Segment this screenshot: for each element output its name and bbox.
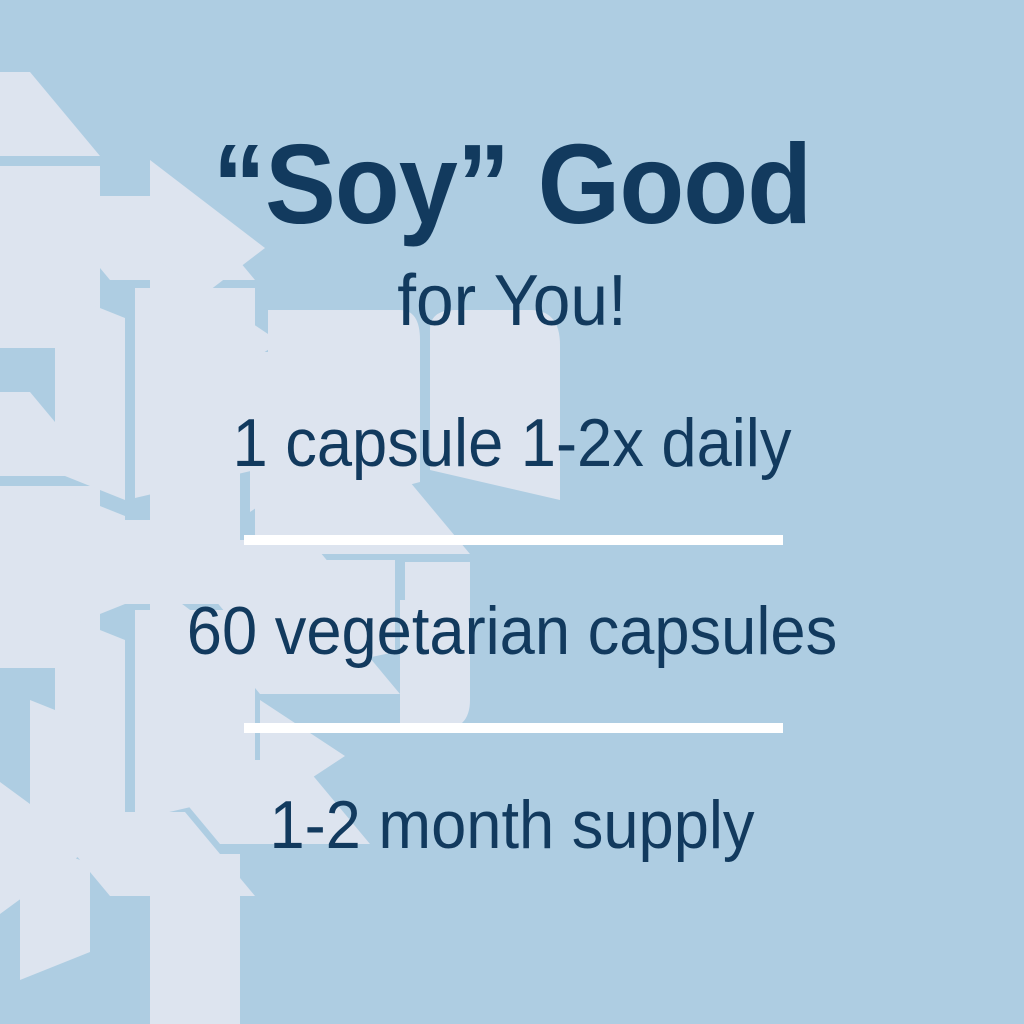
fact-supply-duration: 1-2 month supply [36, 791, 988, 859]
fact-capsule-count: 60 vegetarian capsules [36, 597, 988, 665]
poster-content: “Soy” Good for You! 1 capsule 1-2x daily… [0, 0, 1024, 1024]
divider-above-supply-duration [244, 723, 783, 733]
page-title: “Soy” Good [31, 128, 994, 241]
fact-dosage: 1 capsule 1-2x daily [36, 409, 988, 477]
headline-block: “Soy” Good for You! [0, 128, 1024, 337]
product-info-poster: “Soy” Good for You! 1 capsule 1-2x daily… [0, 0, 1024, 1024]
page-subtitle: for You! [31, 265, 994, 337]
divider-above-capsule-count [244, 535, 783, 545]
